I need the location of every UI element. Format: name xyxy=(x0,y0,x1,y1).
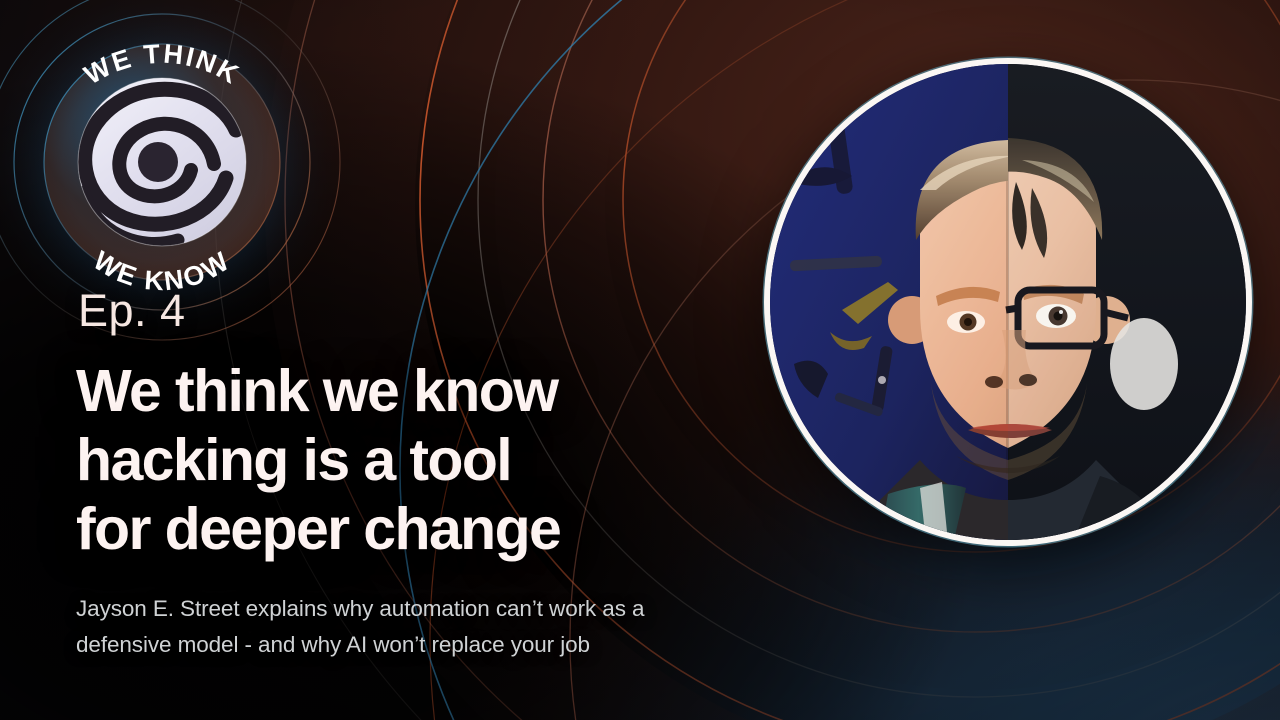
subheadline-line-2: defensive model - and why AI won’t repla… xyxy=(76,627,816,663)
swirl-eye-icon xyxy=(78,78,246,246)
portrait-photo xyxy=(770,64,1246,540)
guest-portrait xyxy=(764,58,1252,546)
headline-line-2: hacking is a tool xyxy=(76,426,756,495)
subheadline-line-1: Jayson E. Street explains why automation… xyxy=(76,591,816,627)
headline-line-1: We think we know xyxy=(76,357,756,426)
episode-card: WE THINK WE KNOW Ep. 4 We think we know … xyxy=(0,0,1280,720)
episode-label: Ep. 4 xyxy=(78,288,186,333)
subheadline: Jayson E. Street explains why automation… xyxy=(76,591,816,662)
headline-line-3: for deeper change xyxy=(76,495,756,564)
headline: We think we know hacking is a tool for d… xyxy=(76,357,756,564)
